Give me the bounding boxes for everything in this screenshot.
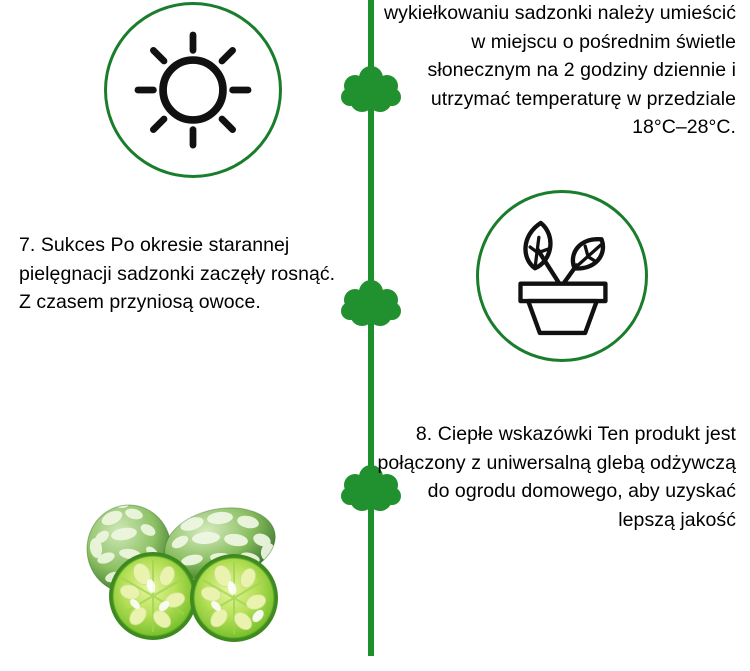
- cut-fruit-left: [109, 552, 197, 640]
- sun-icon: [107, 5, 279, 175]
- potted-plant-icon: [479, 193, 645, 359]
- plant-badge: [476, 190, 648, 362]
- bush-icon: [340, 276, 402, 332]
- step7-text: 7. Sukces Po okresie starannej pielęgnac…: [19, 231, 349, 317]
- cucamelon-photo: [72, 492, 294, 648]
- step6-text: wykiełkowaniu sadzonki należy umieścić w…: [384, 0, 736, 142]
- step8-text: 8. Ciepłe wskazówki Ten produkt jest poł…: [376, 420, 736, 534]
- timeline-node-step7[interactable]: [340, 276, 402, 332]
- cut-fruit-right: [190, 554, 278, 642]
- infographic-page: wykiełkowaniu sadzonki należy umieścić w…: [0, 0, 750, 671]
- sun-badge: [104, 2, 282, 178]
- cucamelon-fruits-image: [72, 492, 294, 648]
